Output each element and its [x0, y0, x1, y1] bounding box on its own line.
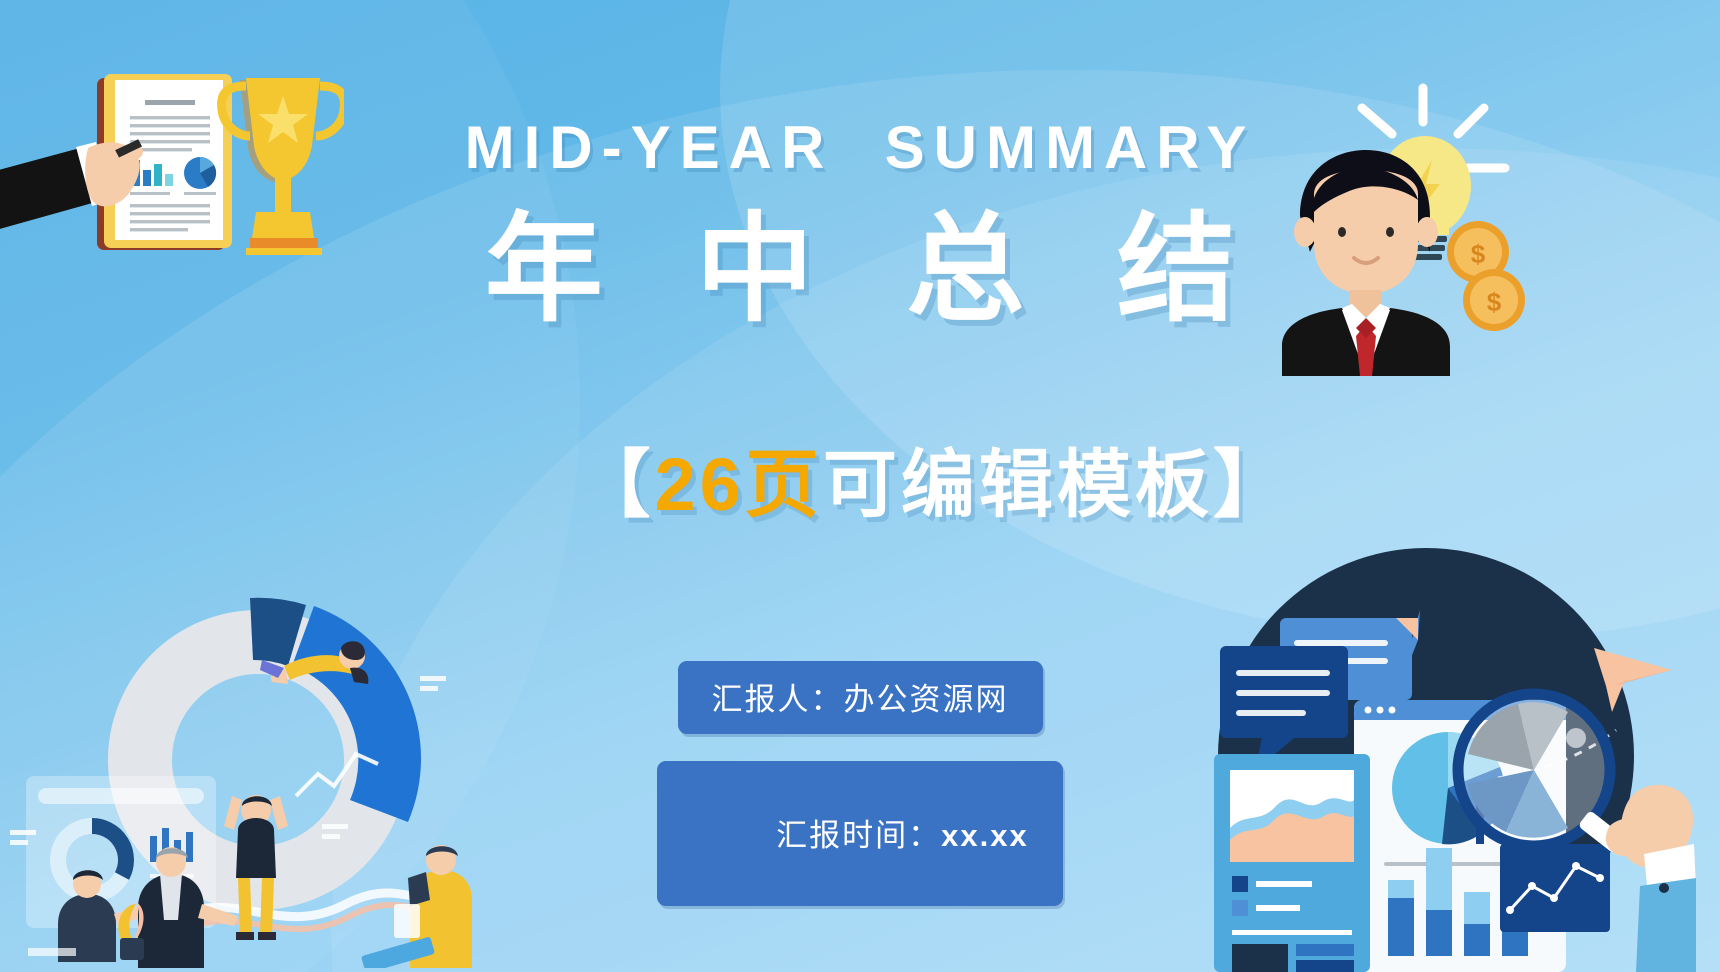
- title-block: MID-YEAR SUMMARY 年 中 总 结 【26页可编辑模板】 汇报人：…: [0, 118, 1720, 906]
- english-title: MID-YEAR SUMMARY: [0, 118, 1720, 178]
- page-title: 年 中 总 结: [0, 204, 1720, 336]
- subtitle-rest: 可编辑模板: [823, 443, 1213, 526]
- presenter-badge[interactable]: 汇报人：办公资源网: [678, 661, 1043, 734]
- date-badge-label: 汇报时间：: [776, 818, 941, 853]
- meta-badges: 汇报人：办公资源网 汇报时间：xx.xx: [0, 661, 1720, 906]
- date-badge-value: xx.xx: [941, 818, 1029, 853]
- subtitle-open-bracket: 【: [577, 443, 655, 526]
- subtitle-page-count: 26页: [655, 443, 823, 526]
- subtitle: 【26页可编辑模板】: [0, 352, 1720, 618]
- subtitle-close-bracket: 】: [1213, 443, 1291, 526]
- presentation-slide: $ $: [0, 0, 1720, 972]
- date-badge[interactable]: 汇报时间：xx.xx: [657, 761, 1062, 906]
